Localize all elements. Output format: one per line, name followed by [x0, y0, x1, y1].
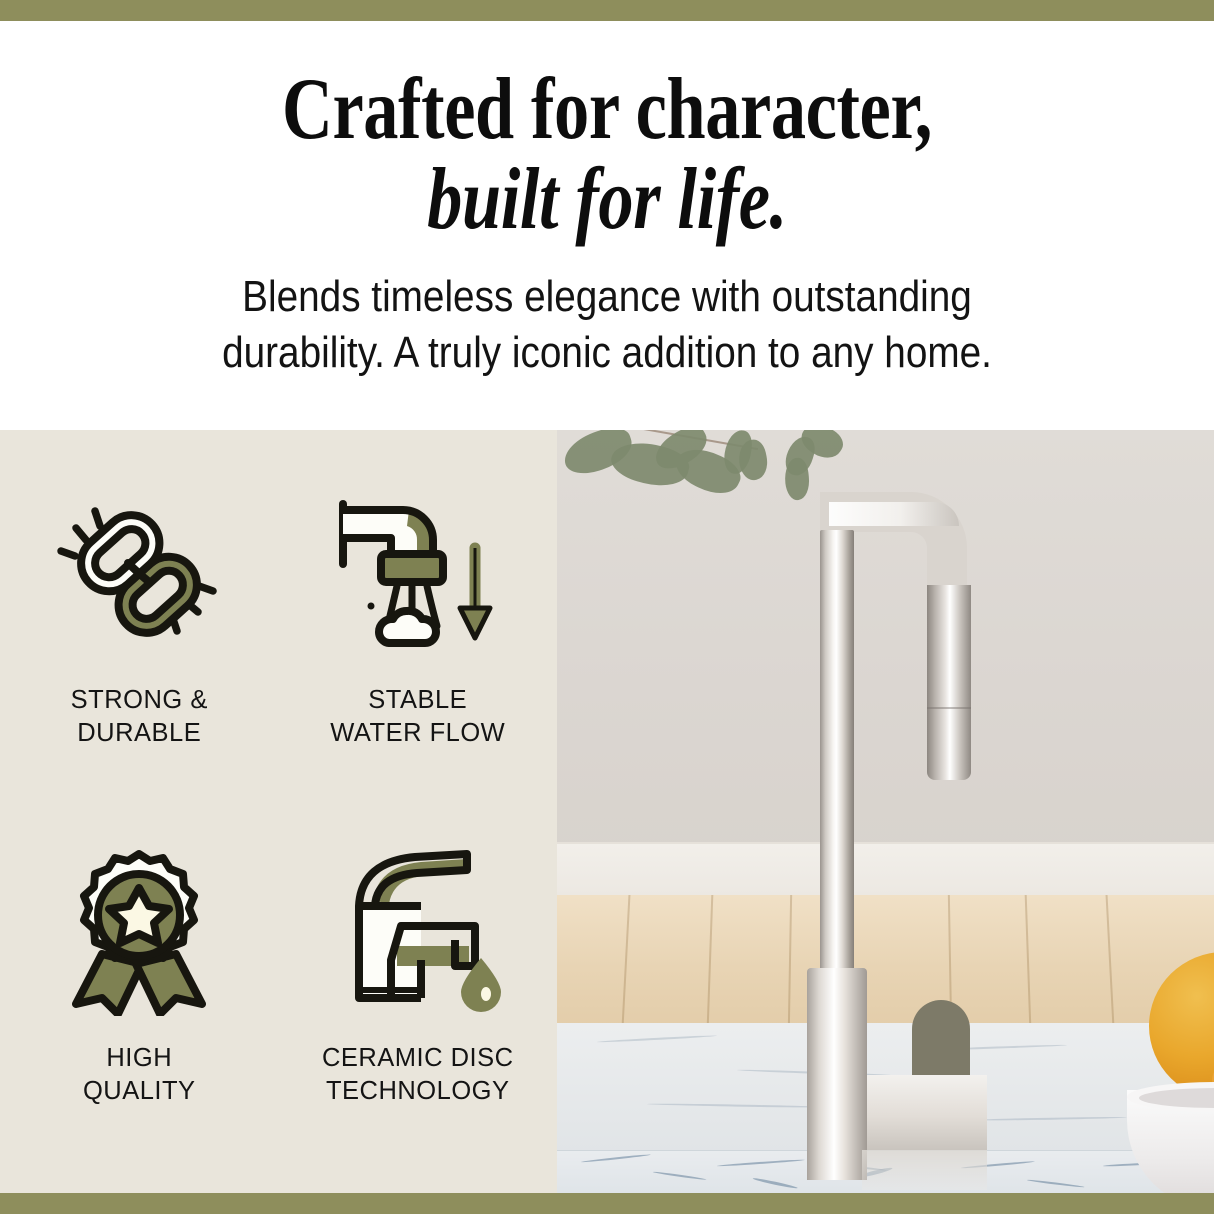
page-headline: Crafted for character,built for life.	[121, 21, 1092, 243]
feature-label: CERAMIC DISC TECHNOLOGY	[322, 1042, 514, 1108]
feature-item-high-quality: HIGH QUALITY	[0, 846, 279, 1186]
faucet-reflection	[862, 1150, 987, 1190]
product-photo	[557, 430, 1214, 1193]
infographic-page: Crafted for character,built for life. Bl…	[0, 0, 1214, 1214]
headline-line-2: built for life.	[121, 157, 1092, 243]
subhead-line-2: durability. A truly iconic addition to a…	[73, 325, 1141, 380]
faucet-spout-band	[927, 707, 971, 709]
feature-item-strong-durable: STRONG & DURABLE	[0, 488, 279, 828]
faucet-handle-block	[862, 1075, 987, 1150]
features-panel: STRONG & DURABLE	[0, 430, 557, 1193]
top-olive-rule	[0, 0, 1214, 21]
page-subheadline: Blends timeless elegance with outstandin…	[73, 243, 1141, 380]
faucet-spout	[927, 585, 971, 780]
faucet-drip-icon	[318, 846, 518, 1018]
photo-wood-floor	[557, 895, 1214, 1027]
lower-band: STRONG & DURABLE	[0, 430, 1214, 1193]
headline-line-1: Crafted for character,	[282, 61, 932, 158]
quality-badge-icon	[39, 846, 239, 1018]
feature-item-stable-water-flow: STABLE WATER FLOW	[279, 488, 558, 828]
feature-label: HIGH QUALITY	[83, 1042, 196, 1108]
bottom-olive-rule	[0, 1193, 1214, 1214]
chain-link-icon	[39, 488, 239, 660]
faucet-base	[807, 968, 867, 1180]
subhead-line-1: Blends timeless elegance with outstandin…	[73, 269, 1141, 324]
faucet-elbow-highlight	[829, 502, 959, 526]
feature-label: STABLE WATER FLOW	[330, 684, 505, 750]
header-section: Crafted for character,built for life. Bl…	[0, 21, 1214, 430]
shower-water-flow-icon	[318, 488, 518, 660]
features-grid: STRONG & DURABLE	[0, 488, 557, 1186]
feature-label: STRONG & DURABLE	[71, 684, 208, 750]
feature-item-ceramic-disc: CERAMIC DISC TECHNOLOGY	[279, 846, 558, 1186]
photo-baseboard	[557, 842, 1214, 897]
